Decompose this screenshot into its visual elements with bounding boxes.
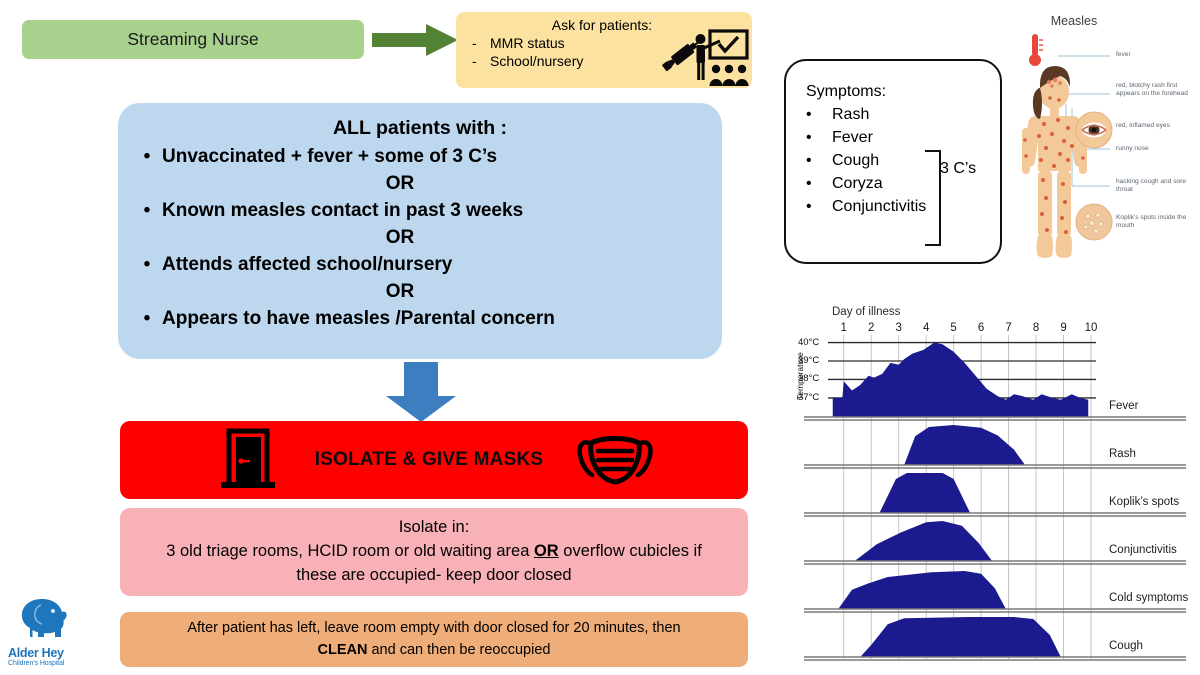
anatomy-label-rash: red, blotchy rash first appears on the f… [1116, 82, 1194, 99]
criteria-bullet-1: • [132, 200, 162, 222]
criteria-or-1: OR [92, 227, 708, 249]
symptom-bullet-3: • [806, 175, 832, 193]
isolate-where-line3: these are occupied- keep door closed [296, 564, 571, 588]
symptom-bullet-1: • [806, 129, 832, 147]
chart-band-label-cold-symptoms: Cold symptoms [1109, 592, 1188, 604]
symptoms-heading: Symptoms: [806, 83, 1000, 101]
arrow-down-icon [384, 362, 458, 422]
three-cs-brace [925, 150, 941, 246]
anatomy-label-cough: hacking cough and sore throat [1116, 178, 1196, 195]
criteria-item-1: • Known measles contact in past 3 weeks [132, 200, 708, 222]
arrow-right-icon [372, 22, 458, 58]
logo-subtitle: Children’s Hospital [8, 660, 86, 667]
symptom-label-1: Fever [832, 129, 873, 147]
symptom-bullet-4: • [806, 198, 832, 216]
isolate-give-masks-box: ISOLATE & GIVE MASKS [120, 421, 748, 499]
criteria-bullet-2: • [132, 254, 162, 276]
teaching-vaccination-icon [658, 28, 750, 86]
symptom-bullet-2: • [806, 152, 832, 170]
symptom-item-1: • Fever [806, 129, 1000, 147]
door-icon [215, 427, 281, 493]
criteria-label-3: Appears to have measles /Parental concer… [162, 308, 555, 330]
anatomy-label-koplik: Koplik’s spots inside the mouth [1116, 214, 1198, 231]
symptom-label-0: Rash [832, 106, 869, 124]
ask-item-label-1: School/nursery [490, 53, 583, 69]
criteria-label-1: Known measles contact in past 3 weeks [162, 200, 523, 222]
face-mask-icon [577, 430, 653, 490]
criteria-bullet-0: • [132, 146, 162, 168]
criteria-or-2: OR [92, 281, 708, 303]
symptom-bullet-0: • [806, 106, 832, 124]
chart-band-label-cough: Cough [1109, 640, 1143, 652]
thermometer-icon [1029, 34, 1043, 66]
clean-line2: CLEAN and can then be reoccupied [318, 640, 551, 662]
anatomy-label-eyes: red, inflamed eyes [1116, 122, 1194, 130]
elephant-icon [8, 596, 86, 640]
anatomy-label-fever: fever [1116, 51, 1196, 59]
anatomy-label-runny-nose: runny nose [1116, 145, 1194, 153]
streaming-nurse-label: Streaming Nurse [127, 29, 258, 50]
isolate-where-line2-pre: 3 old triage rooms, HCID room or old wai… [166, 542, 534, 560]
criteria-item-2: • Attends affected school/nursery [132, 254, 708, 276]
symptom-timeline-chart: Day of illness Temperature 1234567891040… [796, 303, 1194, 667]
symptom-label-2: Cough [832, 152, 879, 170]
alder-hey-logo: Alder Hey Children’s Hospital [8, 596, 86, 668]
clean-room-box: After patient has left, leave room empty… [120, 612, 748, 667]
symptom-item-4: • Conjunctivitis [806, 198, 1000, 216]
chart-plot [796, 303, 1194, 667]
ask-for-patients-box: Ask for patients: - MMR status - School/… [456, 12, 752, 88]
criteria-or-0: OR [92, 173, 708, 195]
three-cs-label: 3 C’s [940, 160, 976, 178]
isolate-location-box: Isolate in: 3 old triage rooms, HCID roo… [120, 508, 748, 596]
clean-line1: After patient has left, leave room empty… [187, 618, 680, 640]
ask-dash-1: - [472, 53, 490, 69]
chart-band-label-conjunctivitis: Conjunctivitis [1109, 544, 1177, 556]
streaming-nurse-box: Streaming Nurse [22, 20, 364, 59]
isolate-where-line2: 3 old triage rooms, HCID room or old wai… [166, 540, 702, 564]
criteria-box: ALL patients with : • Unvaccinated + fev… [118, 103, 722, 359]
logo-name: Alder Hey [8, 646, 86, 660]
criteria-item-0: • Unvaccinated + fever + some of 3 C’s [132, 146, 708, 168]
criteria-label-2: Attends affected school/nursery [162, 254, 452, 276]
koplik-spots-inset [1076, 204, 1112, 240]
isolate-where-line2-post: overflow cubicles if [559, 542, 702, 560]
clean-emphasis: CLEAN [318, 642, 368, 658]
criteria-heading: ALL patients with : [132, 117, 708, 140]
ask-item-label-0: MMR status [490, 35, 565, 51]
symptom-label-3: Coryza [832, 175, 883, 193]
chart-band-label-rash: Rash [1109, 448, 1136, 460]
criteria-bullet-3: • [132, 308, 162, 330]
symptom-item-0: • Rash [806, 106, 1000, 124]
chart-band-label-koplik-s-spots: Koplik’s spots [1109, 496, 1179, 508]
isolate-label: ISOLATE & GIVE MASKS [315, 449, 544, 471]
criteria-item-3: • Appears to have measles /Parental conc… [132, 308, 708, 330]
ask-dash-0: - [472, 35, 490, 51]
symptom-label-4: Conjunctivitis [832, 198, 926, 216]
chart-band-label-fever: Fever [1109, 400, 1138, 412]
measles-anatomy-figure: Measles [1006, 8, 1200, 290]
isolate-where-line1: Isolate in: [399, 516, 470, 540]
criteria-label-0: Unvaccinated + fever + some of 3 C’s [162, 146, 497, 168]
inflamed-eye-inset [1076, 112, 1112, 148]
isolate-where-or: OR [534, 542, 559, 560]
clean-line2-post: and can then be reoccupied [367, 642, 550, 658]
